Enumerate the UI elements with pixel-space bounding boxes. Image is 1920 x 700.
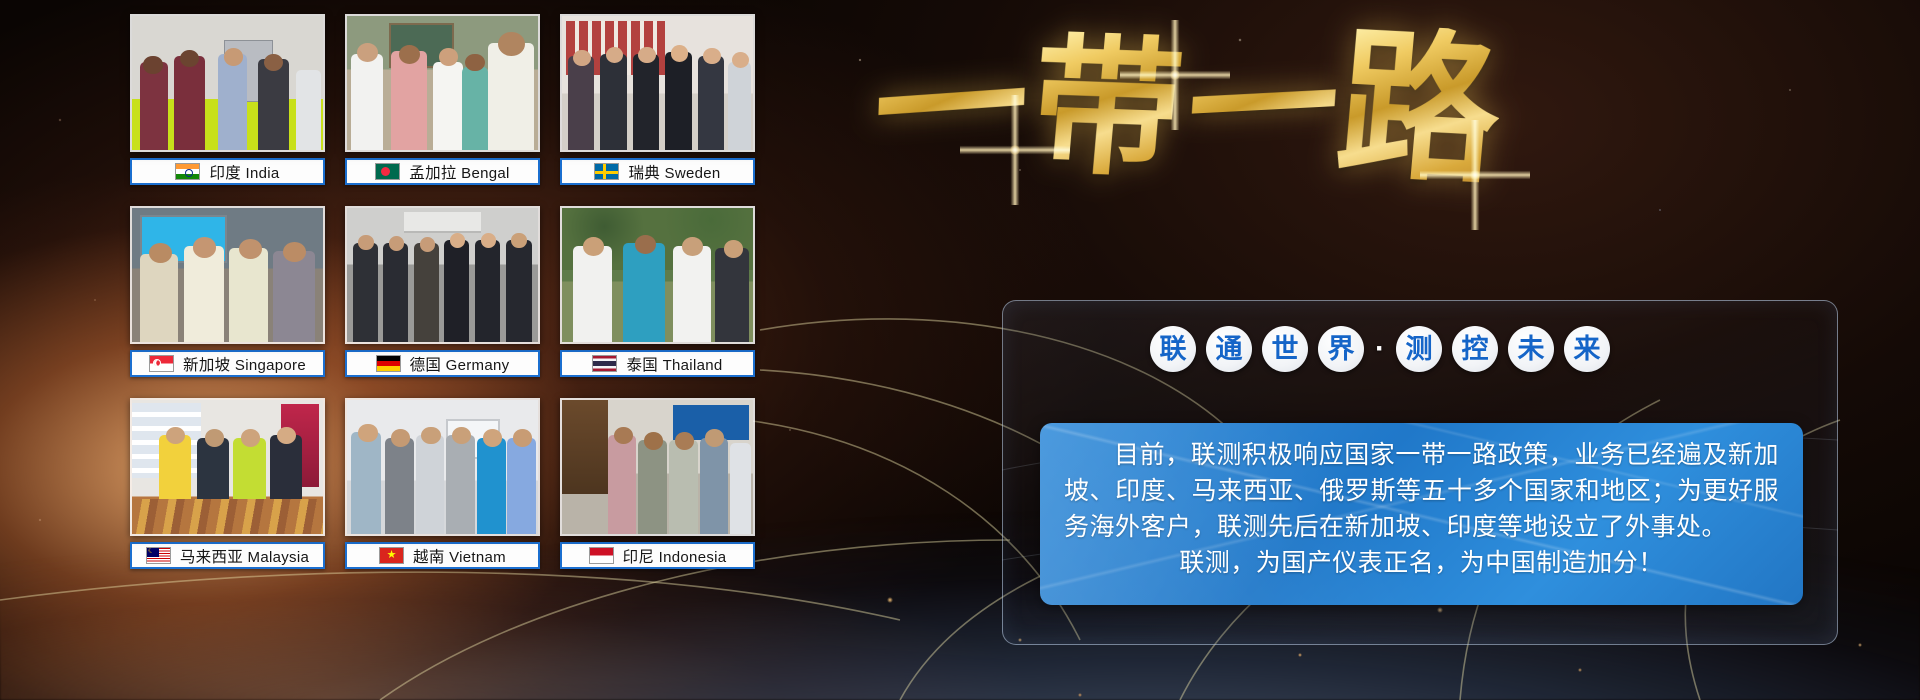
label-sweden: 瑞典 Sweden [560,158,755,185]
flag-vietnam [379,547,404,564]
label-text-india: 印度 India [209,161,279,183]
label-singapore: 新加坡 Singapore [130,350,325,377]
flag-malaysia [146,547,171,564]
description-paragraph-1: 目前，联测积极响应国家一带一路政策，业务已经遍及新加坡、印度、马来西亚、俄罗斯等… [1064,437,1779,545]
photo-indonesia[interactable] [560,398,755,536]
photo-bengal[interactable] [345,14,540,152]
slogan-char-5: 测 [1396,326,1442,372]
slogan-row: 联 通 世 界 · 测 控 未 来 [1150,326,1610,372]
label-text-vietnam: 越南 Vietnam [413,545,506,567]
photo-vietnam[interactable] [345,398,540,536]
slogan-char-4: 界 [1318,326,1364,372]
flag-sweden [594,163,619,180]
gallery-cell-germany[interactable]: 德国 Germany [345,206,540,388]
gallery-cell-malaysia[interactable]: 马来西亚 Malaysia [130,398,325,580]
gallery-cell-india[interactable]: 印度 India [130,14,325,196]
description-paragraph-2: 联测，为国产仪表正名，为中国制造加分！ [1064,545,1779,581]
flag-bangladesh [375,163,400,180]
gallery-cell-singapore[interactable]: 新加坡 Singapore [130,206,325,388]
flag-india [175,163,200,180]
label-indonesia: 印尼 Indonesia [560,542,755,569]
label-text-malaysia: 马来西亚 Malaysia [180,545,309,567]
label-bengal: 孟加拉 Bengal [345,158,540,185]
slogan-char-2: 通 [1206,326,1252,372]
gallery-cell-thailand[interactable]: 泰国 Thailand [560,206,755,388]
label-text-singapore: 新加坡 Singapore [183,353,306,375]
gallery-cell-sweden[interactable]: 瑞典 Sweden [560,14,755,196]
slogan-char-1: 联 [1150,326,1196,372]
label-vietnam: 越南 Vietnam [345,542,540,569]
label-thailand: 泰国 Thailand [560,350,755,377]
label-text-bengal: 孟加拉 Bengal [409,161,509,183]
label-text-sweden: 瑞典 Sweden [628,161,720,183]
slogan-char-3: 世 [1262,326,1308,372]
slogan-char-6: 控 [1452,326,1498,372]
photo-india[interactable] [130,14,325,152]
photo-thailand[interactable] [560,206,755,344]
label-text-thailand: 泰国 Thailand [626,353,722,375]
gallery-cell-bengal[interactable]: 孟加拉 Bengal [345,14,540,196]
photo-germany[interactable] [345,206,540,344]
photo-malaysia[interactable] [130,398,325,536]
description-box: 目前，联测积极响应国家一带一路政策，业务已经遍及新加坡、印度、马来西亚、俄罗斯等… [1040,423,1803,605]
photo-singapore[interactable] [130,206,325,344]
label-india: 印度 India [130,158,325,185]
slogan-char-8: 来 [1564,326,1610,372]
photo-sweden[interactable] [560,14,755,152]
gallery-cell-vietnam[interactable]: 越南 Vietnam [345,398,540,580]
label-germany: 德国 Germany [345,350,540,377]
flag-singapore [149,355,174,372]
country-photo-grid: 印度 India 孟加拉 Bengal [130,14,755,580]
label-text-indonesia: 印尼 Indonesia [623,545,727,567]
banner-root: 印度 India 孟加拉 Bengal [0,0,1920,700]
label-text-germany: 德国 Germany [410,353,510,375]
flag-indonesia [589,547,614,564]
gallery-cell-indonesia[interactable]: 印尼 Indonesia [560,398,755,580]
flag-germany [376,355,401,372]
slogan-char-7: 未 [1508,326,1554,372]
label-malaysia: 马来西亚 Malaysia [130,542,325,569]
flag-thailand [592,355,617,372]
slogan-separator-dot: · [1374,334,1386,364]
